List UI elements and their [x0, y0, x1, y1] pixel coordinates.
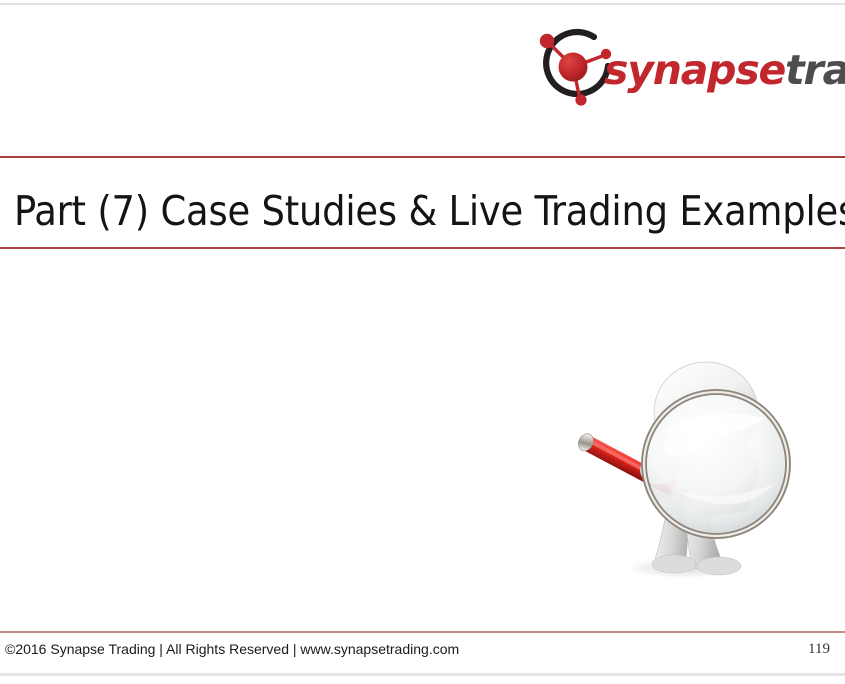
3d-figure-with-magnifying-glass-illustration	[556, 336, 804, 584]
brand-logo[interactable]: synapsetrading	[532, 28, 832, 106]
slide-canvas: synapsetrading Part (7) Case Studies & L…	[0, 0, 845, 684]
footer-divider	[0, 631, 845, 633]
brand-wordmark: synapsetrading	[604, 44, 845, 96]
brand-wordmark-primary: synapse	[604, 46, 785, 94]
bottom-frame-divider	[0, 673, 845, 676]
footer-copyright: ©2016 Synapse Trading | All Rights Reser…	[5, 641, 459, 657]
title-top-divider	[0, 156, 845, 158]
brand-wordmark-secondary: trading	[785, 46, 845, 94]
top-frame-divider	[0, 3, 845, 5]
page-title: Part (7) Case Studies & Live Trading Exa…	[14, 180, 834, 242]
title-bottom-divider	[0, 247, 845, 249]
page-number: 119	[690, 641, 830, 658]
